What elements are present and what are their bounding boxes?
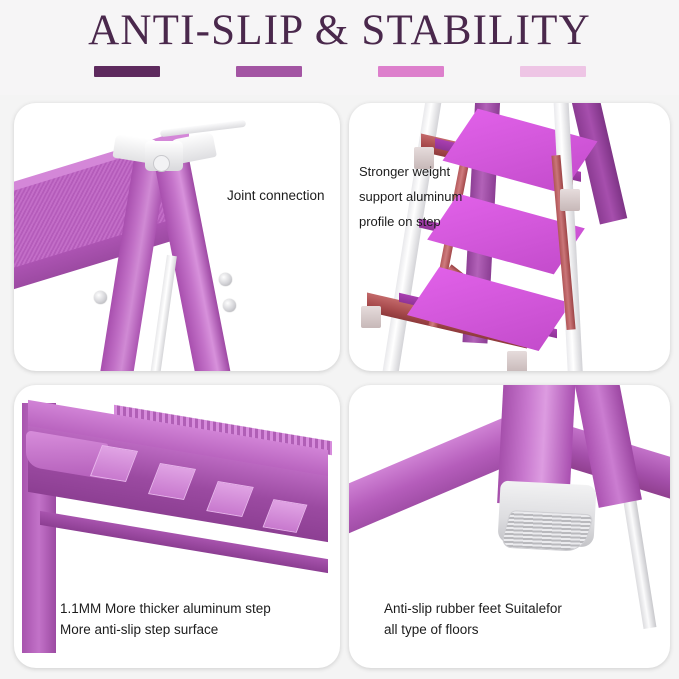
ladder-joint-illustration: [14, 103, 340, 371]
rivet-icon: [219, 273, 232, 286]
beam-clamp-icon: [560, 189, 580, 211]
swatch-purple: [236, 66, 302, 77]
panel-caption-joint-connection: Joint connection: [227, 185, 325, 206]
step-surface-top: [443, 109, 598, 194]
color-swatch-row: [0, 66, 679, 77]
beam-clamp-icon: [507, 351, 527, 371]
panel-anti-slip-rubber-feet[interactable]: Anti-slip rubber feet Suitalefor all typ…: [349, 385, 670, 668]
rubber-tread-pattern: [500, 510, 595, 552]
ladder-steps-illustration: [349, 103, 670, 371]
page-title: ANTI-SLIP & STABILITY: [0, 6, 679, 55]
swatch-light-pink: [520, 66, 586, 77]
panel-caption-thicker-aluminum-step: 1.1MM More thicker aluminum step More an…: [60, 598, 271, 640]
panel-joint-connection[interactable]: Joint connection: [14, 103, 340, 371]
beam-clamp-icon: [361, 306, 381, 328]
support-brace-bar: [149, 255, 177, 371]
hinge-pin-icon: [153, 155, 170, 172]
caption-line: Joint connection: [227, 185, 325, 206]
header-banner: ANTI-SLIP & STABILITY: [0, 0, 679, 95]
step-end-cap: [302, 479, 330, 542]
caption-line: Stronger weight: [359, 159, 462, 184]
caption-line: support aluminum: [359, 184, 462, 209]
panel-caption-stronger-weight-support: Stronger weight support aluminum profile…: [359, 159, 462, 234]
caption-line: 1.1MM More thicker aluminum step: [60, 598, 271, 619]
panel-caption-anti-slip-rubber-feet: Anti-slip rubber feet Suitalefor all typ…: [384, 598, 562, 640]
panel-thicker-aluminum-step[interactable]: 1.1MM More thicker aluminum step More an…: [14, 385, 340, 668]
swatch-dark-plum: [94, 66, 160, 77]
rivet-icon: [94, 291, 107, 304]
caption-line: More anti-slip step surface: [60, 619, 271, 640]
caption-line: all type of floors: [384, 619, 562, 640]
panel-stronger-weight-support[interactable]: Stronger weight support aluminum profile…: [349, 103, 670, 371]
caption-line: profile on step: [359, 209, 462, 234]
swatch-pink: [378, 66, 444, 77]
feature-panel-grid: Joint connection Stronger weigh: [0, 95, 679, 679]
caption-line: Anti-slip rubber feet Suitalefor: [384, 598, 562, 619]
rivet-icon: [223, 299, 236, 312]
